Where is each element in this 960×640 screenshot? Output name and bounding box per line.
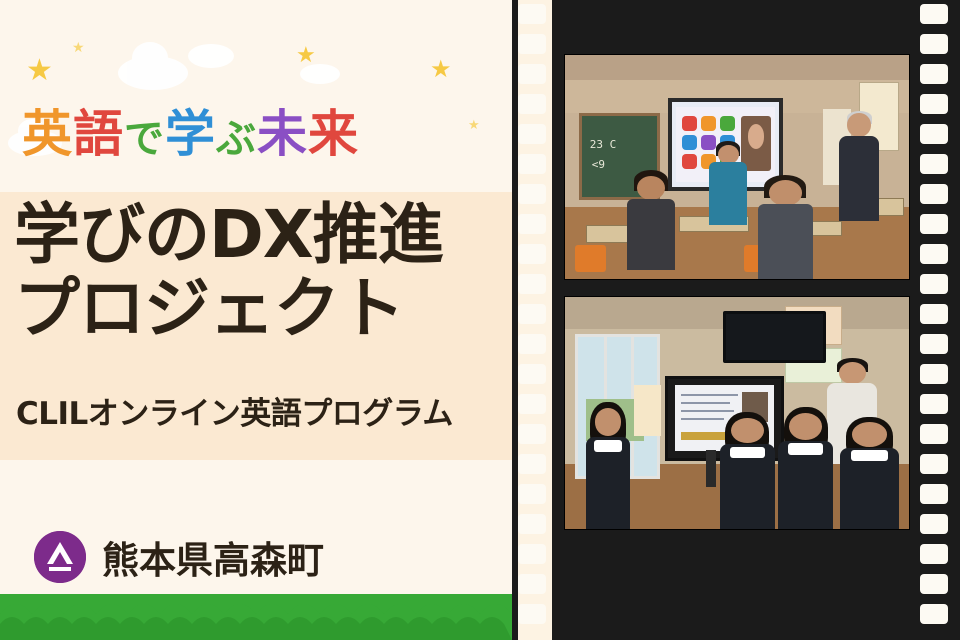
town-logo-mark-icon [34, 531, 86, 583]
film-perforation [920, 304, 948, 324]
student-head [731, 418, 764, 444]
headline-colored: 英 語 で 学 ぶ 未 来 [22, 92, 492, 168]
headline-char: 語 [73, 94, 124, 166]
chalkboard-mark-icon: <9 [592, 158, 605, 171]
film-perforation [920, 184, 948, 204]
student-head [769, 180, 802, 206]
film-perforation [518, 154, 546, 174]
film-perforation-column-left [518, 0, 552, 640]
film-perforation [518, 124, 546, 144]
uniform-collar [851, 450, 888, 461]
film-perforation [518, 544, 546, 564]
app-icon [682, 135, 697, 150]
star-icon: ★ [296, 44, 316, 66]
teacher-head [839, 362, 866, 384]
film-perforation [518, 454, 546, 474]
student-body [627, 199, 675, 270]
uniform-collar [594, 440, 623, 452]
classroom-chair [575, 245, 606, 272]
film-perforation [518, 94, 546, 114]
film-perforation-column-right [920, 0, 954, 640]
film-perforation [920, 34, 948, 54]
film-perforation [518, 304, 546, 324]
student-head [718, 145, 739, 164]
board-stand [706, 450, 716, 487]
film-perforation [920, 364, 948, 384]
film-perforation [920, 94, 948, 114]
teacher-figure [837, 113, 882, 221]
slide-text-line [681, 410, 735, 412]
headline-char: ぶ [216, 106, 257, 164]
app-icon [682, 154, 697, 169]
film-perforation [920, 64, 948, 84]
star-icon: ★ [430, 58, 452, 82]
grass-decoration [0, 594, 512, 640]
film-perforation [920, 514, 948, 534]
star-icon: ★ [26, 56, 53, 86]
film-perforation [920, 154, 948, 174]
student-head [637, 176, 666, 200]
student-head [852, 422, 887, 447]
student-figure [778, 413, 833, 529]
wall-monitor [723, 311, 825, 363]
film-perforation [920, 574, 948, 594]
cloud-icon [118, 56, 188, 90]
student-figure [840, 422, 898, 529]
headline-char: 来 [308, 94, 359, 166]
wall-paper [634, 385, 662, 436]
film-perforation [920, 274, 948, 294]
teacher-head [847, 113, 870, 137]
app-icon [720, 116, 735, 131]
film-perforation [518, 184, 546, 204]
teacher-body [839, 136, 878, 221]
photo-classroom-lower [564, 296, 910, 530]
poster-canvas: ★ ★ ★ ★ ★ 英 語 で 学 ぶ 未 来 学びのDX推進 プロジェクト C… [0, 0, 960, 640]
page-subtitle: CLILオンライン英語プログラム [16, 388, 506, 433]
chalkboard-text: 23 C [590, 138, 617, 151]
film-perforation [518, 394, 546, 414]
town-logo-icon [34, 531, 86, 583]
film-perforation [518, 484, 546, 504]
student-body [758, 204, 813, 279]
film-perforation [518, 274, 546, 294]
film-perforation [518, 514, 546, 534]
app-icon [682, 116, 697, 131]
film-perforation [920, 394, 948, 414]
film-perforation [518, 604, 546, 624]
headline-char: で [124, 106, 165, 164]
cloud-icon [300, 64, 340, 84]
town-name: 熊本県高森町 [102, 530, 324, 584]
grass-icon [0, 594, 512, 640]
slide-text-line [681, 402, 731, 404]
uniform-collar [788, 443, 823, 455]
film-perforation [518, 34, 546, 54]
uniform-collar [730, 447, 765, 458]
film-perforation [518, 4, 546, 24]
film-perforation [518, 244, 546, 264]
photo-content [565, 297, 909, 529]
headline-char: 未 [257, 94, 308, 166]
student-figure [720, 418, 775, 529]
student-head [789, 413, 822, 440]
page-title: 学びのDX推進 プロジェクト [14, 198, 510, 346]
headline-char: 学 [165, 94, 216, 166]
student-figure [586, 408, 631, 529]
poster-left-panel: ★ ★ ★ ★ ★ 英 語 で 学 ぶ 未 来 学びのDX推進 プロジェクト C… [0, 0, 512, 640]
film-perforation [920, 4, 948, 24]
student-figure [627, 176, 675, 270]
film-perforation [518, 334, 546, 354]
film-perforation [920, 244, 948, 264]
film-perforation [920, 214, 948, 234]
film-perforation [518, 574, 546, 594]
film-perforation [920, 544, 948, 564]
title-line-2: プロジェクト [14, 272, 510, 346]
slide-text-line [681, 418, 725, 420]
film-perforation [920, 334, 948, 354]
film-perforation [518, 214, 546, 234]
student-figure [758, 180, 813, 279]
film-perforation [920, 124, 948, 144]
photo-content: 23 C <9 [565, 55, 909, 279]
photo-classroom-upper: 23 C <9 [564, 54, 910, 280]
film-perforation [518, 64, 546, 84]
student-body [709, 162, 747, 225]
star-icon: ★ [72, 40, 85, 54]
slide-text-line [681, 394, 739, 396]
student-figure [709, 145, 747, 226]
classroom-ceiling [565, 55, 909, 80]
app-icon [701, 116, 716, 131]
film-perforation [920, 484, 948, 504]
cloud-icon [188, 44, 234, 68]
film-perforation [920, 424, 948, 444]
headline-char: 英 [22, 94, 73, 166]
film-strip: 23 C <9 [512, 0, 960, 640]
footer-identity: 熊本県高森町 [34, 530, 324, 584]
film-perforation [920, 454, 948, 474]
film-perforation [518, 364, 546, 384]
film-perforation [920, 604, 948, 624]
title-line-1: 学びのDX推進 [14, 198, 510, 272]
film-perforation [518, 424, 546, 444]
